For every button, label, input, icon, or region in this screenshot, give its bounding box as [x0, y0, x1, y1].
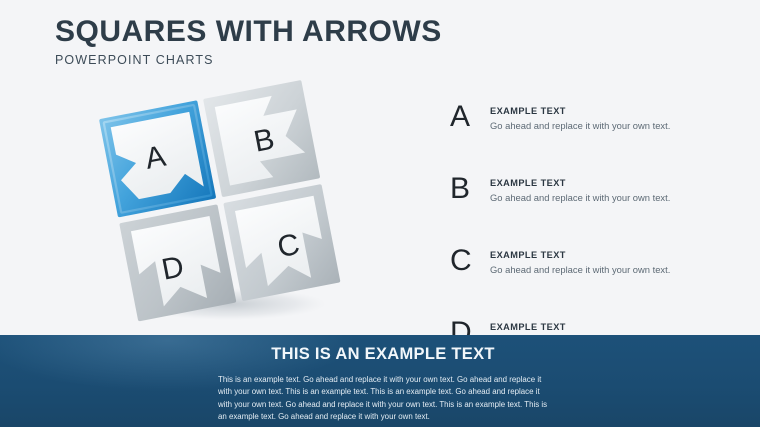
legend-text-c: Go ahead and replace it with your own te…	[490, 263, 712, 276]
diagram-square-b: B	[203, 80, 320, 197]
squares-with-arrows-diagram: D C B A	[78, 72, 358, 322]
legend-item-c[interactable]: C EXAMPLE TEXT Go ahead and replace it w…	[450, 248, 715, 298]
legend-heading-a: EXAMPLE TEXT	[490, 106, 712, 118]
header: SQUARES WITH ARROWS POWERPOINT CHARTS	[55, 16, 442, 67]
legend-heading-d: EXAMPLE TEXT	[490, 322, 712, 334]
page-title: SQUARES WITH ARROWS	[55, 16, 442, 48]
legend-heading-c: EXAMPLE TEXT	[490, 250, 712, 262]
diagram-square-c: C	[223, 184, 340, 301]
legend-item-a[interactable]: A EXAMPLE TEXT Go ahead and replace it w…	[450, 104, 715, 154]
diagram-square-d: D	[119, 204, 236, 321]
banner-paragraph: This is an example text. Go ahead and re…	[218, 374, 548, 424]
banner-content: THIS IS AN EXAMPLE TEXT This is an examp…	[218, 345, 548, 424]
legend-body-b: EXAMPLE TEXT Go ahead and replace it wit…	[490, 178, 712, 204]
legend-text-b: Go ahead and replace it with your own te…	[490, 191, 712, 204]
legend-letter-a: A	[450, 102, 486, 132]
page-subtitle: POWERPOINT CHARTS	[55, 53, 442, 67]
diagram-square-a[interactable]: A	[99, 100, 216, 217]
bottom-banner: THIS IS AN EXAMPLE TEXT This is an examp…	[0, 335, 760, 427]
legend-letter-b: B	[450, 174, 486, 204]
banner-title: THIS IS AN EXAMPLE TEXT	[218, 345, 548, 365]
legend-heading-b: EXAMPLE TEXT	[490, 178, 712, 190]
legend-letter-c: C	[450, 246, 486, 276]
legend-body-a: EXAMPLE TEXT Go ahead and replace it wit…	[490, 106, 712, 132]
legend-body-c: EXAMPLE TEXT Go ahead and replace it wit…	[490, 250, 712, 276]
legend-text-a: Go ahead and replace it with your own te…	[490, 119, 712, 132]
legend-item-b[interactable]: B EXAMPLE TEXT Go ahead and replace it w…	[450, 176, 715, 226]
